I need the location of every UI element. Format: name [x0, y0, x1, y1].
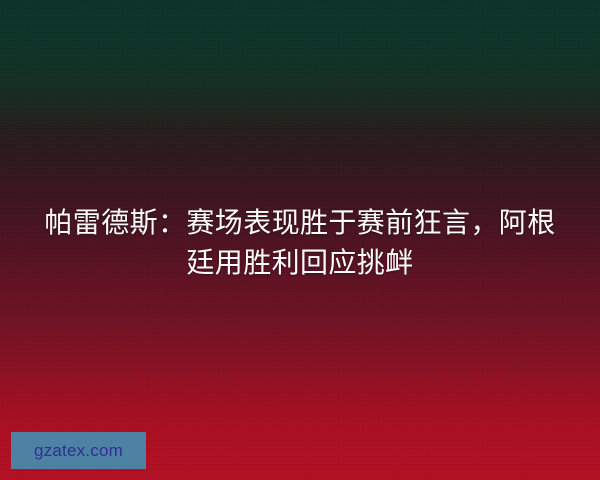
headline-line-1: 帕雷德斯：赛场表现胜于赛前狂言，阿根 — [24, 203, 576, 243]
headline-text: 帕雷德斯：赛场表现胜于赛前狂言，阿根 廷用胜利回应挑衅 — [0, 203, 600, 283]
watermark-label: gzatex.com — [34, 442, 123, 459]
watermark-badge[interactable]: gzatex.com — [11, 432, 146, 469]
news-banner-card: 帕雷德斯：赛场表现胜于赛前狂言，阿根 廷用胜利回应挑衅 gzatex.com — [0, 0, 600, 480]
headline-line-2: 廷用胜利回应挑衅 — [24, 243, 576, 283]
